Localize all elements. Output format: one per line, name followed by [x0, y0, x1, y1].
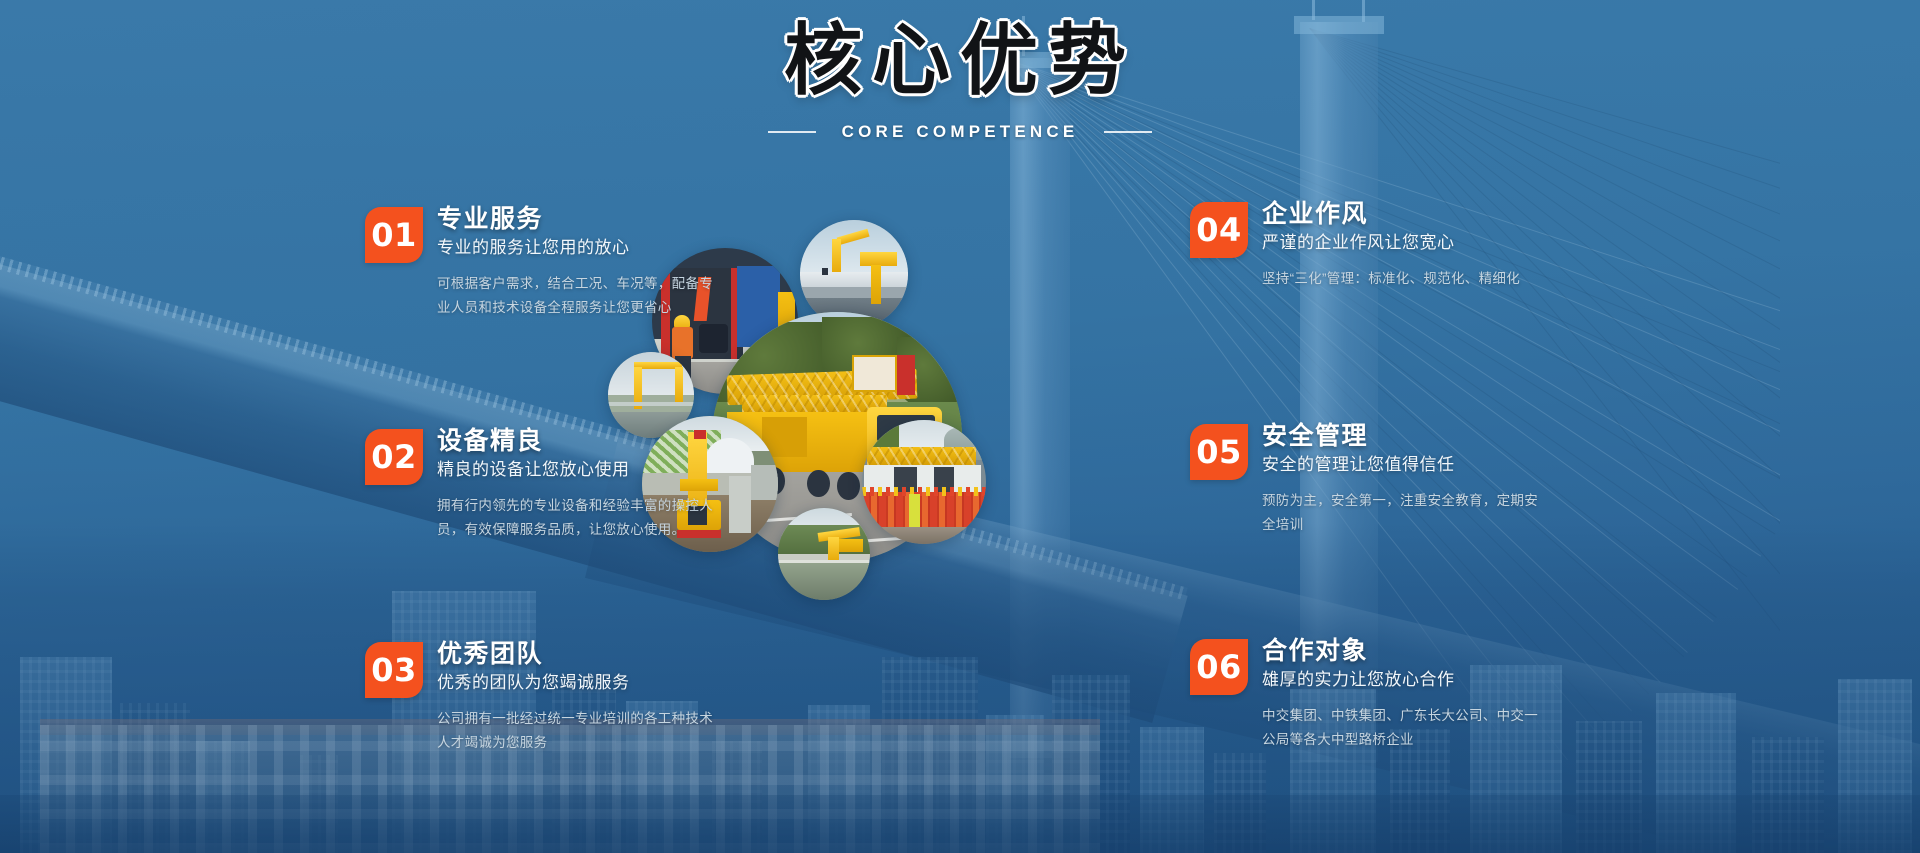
- feature-title-04: 企业作风: [1262, 200, 1520, 228]
- subtitle-dash-left: [768, 131, 816, 133]
- page-header: 核心优势 CORE COMPETENCE: [0, 22, 1920, 142]
- feature-badge-05: 05: [1190, 424, 1248, 480]
- feature-subtitle-03: 优秀的团队为您竭诚服务: [437, 672, 695, 693]
- feature-badge-03: 03: [365, 642, 423, 698]
- feature-subtitle-01: 专业的服务让您用的放心: [437, 237, 695, 258]
- feature-item-04[interactable]: 04 企业作风 严谨的企业作风让您宽心 坚持“三化”管理：标准化、规范化、精细化: [1190, 200, 1520, 291]
- feature-desc-02: 拥有行内领先的专业设备和经验丰富的操控人员，有效保障服务品质，让您放心使用。: [437, 494, 715, 541]
- photo-team-group: [862, 420, 986, 544]
- feature-item-02[interactable]: 02 设备精良 精良的设备让您放心使用 拥有行内领先的专业设备和经验丰富的操控人…: [365, 427, 695, 542]
- page-subtitle: CORE COMPETENCE: [842, 122, 1079, 142]
- photo-bridge-platform: [778, 508, 870, 600]
- feature-title-05: 安全管理: [1262, 422, 1520, 450]
- feature-desc-03: 公司拥有一批经过统一专业培训的各工种技术人才竭诚为您服务: [437, 707, 715, 754]
- feature-title-03: 优秀团队: [437, 640, 695, 668]
- feature-desc-01: 可根据客户需求，结合工况、车况等，配备专业人员和技术设备全程服务让您更省心: [437, 272, 715, 319]
- feature-badge-04: 04: [1190, 202, 1248, 258]
- feature-subtitle-06: 雄厚的实力让您放心合作: [1262, 669, 1520, 690]
- feature-item-05[interactable]: 05 安全管理 安全的管理让您值得信任 预防为主，安全第一，注重安全教育，定期安…: [1190, 422, 1520, 537]
- feature-title-01: 专业服务: [437, 205, 695, 233]
- feature-subtitle-05: 安全的管理让您值得信任: [1262, 454, 1520, 475]
- feature-desc-06: 中交集团、中铁集团、广东长大公司、中交一公局等各大中型路桥企业: [1262, 704, 1540, 751]
- page-title: 核心优势: [0, 22, 1920, 100]
- feature-desc-04: 坚持“三化”管理：标准化、规范化、精细化: [1262, 267, 1540, 291]
- feature-subtitle-02: 精良的设备让您放心使用: [437, 459, 695, 480]
- feature-title-02: 设备精良: [437, 427, 695, 455]
- feature-subtitle-04: 严谨的企业作风让您宽心: [1262, 232, 1520, 253]
- feature-item-03[interactable]: 03 优秀团队 优秀的团队为您竭诚服务 公司拥有一批经过统一专业培训的各工种技术…: [365, 640, 695, 755]
- subtitle-dash-right: [1104, 131, 1152, 133]
- subtitle-row: CORE COMPETENCE: [0, 122, 1920, 142]
- feature-badge-06: 06: [1190, 639, 1248, 695]
- feature-badge-02: 02: [365, 429, 423, 485]
- feature-item-01[interactable]: 01 专业服务 专业的服务让您用的放心 可根据客户需求，结合工况、车况等，配备专…: [365, 205, 695, 320]
- feature-title-06: 合作对象: [1262, 637, 1520, 665]
- feature-desc-05: 预防为主，安全第一，注重安全教育，定期安全培训: [1262, 489, 1540, 536]
- feature-item-06[interactable]: 06 合作对象 雄厚的实力让您放心合作 中交集团、中铁集团、广东长大公司、中交一…: [1190, 637, 1520, 752]
- feature-badge-01: 01: [365, 207, 423, 263]
